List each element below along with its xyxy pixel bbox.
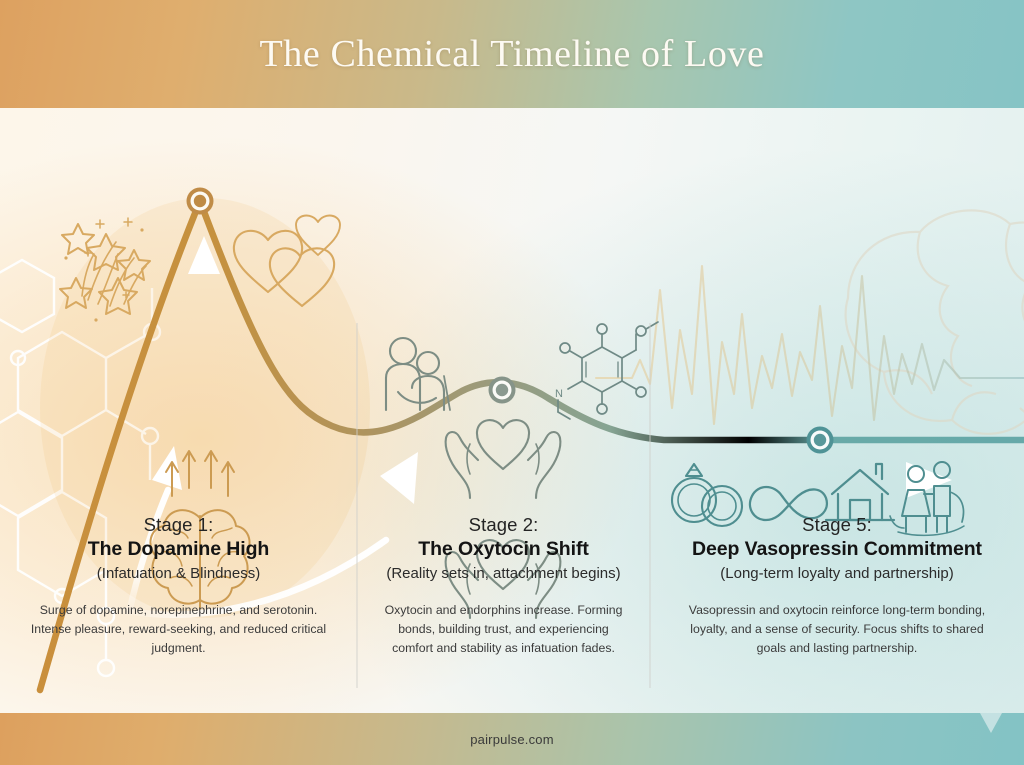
header-banner: The Chemical Timeline of Love — [0, 0, 1024, 108]
stage-subtitle: (Reality sets in, attachment begins) — [371, 564, 636, 584]
stage-name: The Oxytocin Shift — [371, 537, 636, 562]
infographic-poster: The Chemical Timeline of Love — [0, 0, 1024, 765]
stage-column-2: Stage 2: The Oxytocin Shift (Reality set… — [357, 513, 650, 713]
stage-name: The Dopamine High — [14, 537, 343, 562]
stage-name: Deep Vasopressin Commitment — [664, 537, 1010, 562]
stage-subtitle: (Infatuation & Blindness) — [14, 564, 343, 584]
stage-body: Vasopressin and oxytocin reinforce long-… — [664, 601, 1010, 658]
chart-canvas: N — [0, 108, 1024, 713]
stage-subtitle: (Long-term loyalty and partnership) — [664, 564, 1010, 584]
stage-text-columns: Stage 1: The Dopamine High (Infatuation … — [0, 513, 1024, 713]
footer-banner: pairpulse.com — [0, 713, 1024, 765]
site-url[interactable]: pairpulse.com — [470, 732, 554, 747]
stage-body: Oxytocin and endorphins increase. Formin… — [371, 601, 636, 658]
stage-number: Stage 5: — [664, 513, 1010, 536]
stage-number: Stage 2: — [371, 513, 636, 536]
stage-column-3: Stage 5: Deep Vasopressin Commitment (Lo… — [650, 513, 1024, 713]
stage-column-1: Stage 1: The Dopamine High (Infatuation … — [0, 513, 357, 713]
stage-body: Surge of dopamine, norepinephrine, and s… — [14, 601, 343, 658]
page-title: The Chemical Timeline of Love — [260, 32, 765, 76]
stage-number: Stage 1: — [14, 513, 343, 536]
footer-notch-icon — [980, 713, 1002, 733]
